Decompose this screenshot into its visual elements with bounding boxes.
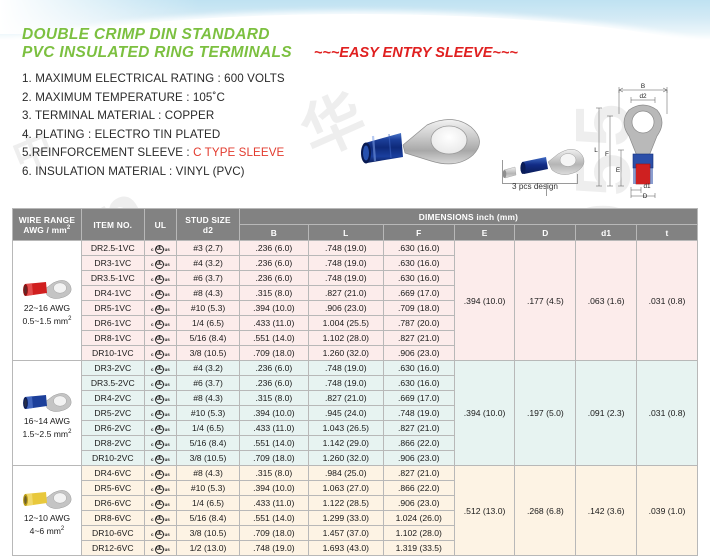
cell-dim-F: .906 (23.0)	[383, 451, 454, 466]
cell-dim-L: 1.043 (26.5)	[308, 421, 383, 436]
cell-dim-B: .394 (10.0)	[239, 481, 308, 496]
cell-item-no: DR8-2VC	[81, 436, 144, 451]
three-piece-design-label: 3 pcs design	[512, 182, 558, 191]
spec-item-5-value: C TYPE SLEEVE	[193, 146, 284, 159]
wire-range-awg: 12~10 AWG	[13, 513, 81, 524]
terminal-dimensions-table: WIRE RANGE AWG / mm2 ITEM NO. UL STUD SI…	[12, 208, 698, 556]
spec-item-5-label: 5.REINFORCEMENT SLEEVE :	[22, 146, 193, 159]
cell-dim-B: .433 (11.0)	[239, 421, 308, 436]
header-col-d1: d1	[576, 225, 637, 241]
cell-dim-B: .315 (8.0)	[239, 466, 308, 481]
wire-range-cell-yellow: 12~10 AWG4~6 mm2	[13, 466, 82, 556]
ul-certification-icon: cULus	[151, 455, 170, 464]
cell-dim-L: 1.260 (32.0)	[308, 346, 383, 361]
cell-dim-L: 1.299 (33.0)	[308, 511, 383, 526]
ul-certification-icon: cULus	[151, 335, 170, 344]
cell-ul: cULus	[144, 301, 176, 316]
cell-item-no: DR10-6VC	[81, 526, 144, 541]
wire-range-awg: 22~16 AWG	[13, 303, 81, 314]
svg-text:d2: d2	[639, 93, 647, 100]
table-header: WIRE RANGE AWG / mm2 ITEM NO. UL STUD SI…	[13, 209, 698, 241]
cell-dim-L: 1.260 (32.0)	[308, 451, 383, 466]
cell-item-no: DR4-2VC	[81, 391, 144, 406]
terminal-thumbnail-yellow	[19, 486, 75, 512]
cell-dim-F: .866 (22.0)	[383, 481, 454, 496]
cell-dim-B: .551 (14.0)	[239, 331, 308, 346]
cell-dim-F: .709 (18.0)	[383, 301, 454, 316]
ul-certification-icon: cULus	[151, 425, 170, 434]
cell-item-no: DR6-6VC	[81, 496, 144, 511]
cell-dim-F: 1.319 (33.5)	[383, 541, 454, 556]
cell-dim-F: .906 (23.0)	[383, 346, 454, 361]
cell-stud-size: #4 (3.2)	[177, 256, 240, 271]
cell-item-no: DR10-1VC	[81, 346, 144, 361]
ul-certification-icon: cULus	[151, 515, 170, 524]
cell-ul: cULus	[144, 436, 176, 451]
easy-entry-tagline: ~~~EASY ENTRY SLEEVE~~~	[314, 45, 518, 61]
cell-dim-L: .906 (23.0)	[308, 301, 383, 316]
ul-certification-icon: cULus	[151, 470, 170, 479]
cell-item-no: DR4-1VC	[81, 286, 144, 301]
title-line-2-row: PVC INSULATED RING TERMINALS ~~~EASY ENT…	[22, 44, 518, 62]
cell-stud-size: 5/16 (8.4)	[177, 436, 240, 451]
table-header-row-1: WIRE RANGE AWG / mm2 ITEM NO. UL STUD SI…	[13, 209, 698, 225]
spec-item-5: 5.REINFORCEMENT SLEEVE : C TYPE SLEEVE	[22, 144, 285, 163]
cell-dim-L: 1.693 (43.0)	[308, 541, 383, 556]
cell-dim-B: .433 (11.0)	[239, 496, 308, 511]
header-col-D: D	[515, 225, 576, 241]
ul-certification-icon: cULus	[151, 500, 170, 509]
ul-certification-icon: cULus	[151, 440, 170, 449]
cell-ul: cULus	[144, 331, 176, 346]
cell-ul: cULus	[144, 271, 176, 286]
cell-ul: cULus	[144, 451, 176, 466]
cell-dim-L: .984 (25.0)	[308, 466, 383, 481]
cell-dim-L: .827 (21.0)	[308, 391, 383, 406]
cell-ul: cULus	[144, 421, 176, 436]
cell-stud-size: 3/8 (10.5)	[177, 346, 240, 361]
cell-ul: cULus	[144, 406, 176, 421]
three-piece-bracket	[502, 160, 578, 184]
header-wire-range-line1: WIRE RANGE	[13, 215, 81, 225]
cell-dim-F: .906 (23.0)	[383, 496, 454, 511]
cell-item-no: DR6-1VC	[81, 316, 144, 331]
cell-dim-F: .827 (21.0)	[383, 466, 454, 481]
cell-stud-size: #10 (5.3)	[177, 481, 240, 496]
technical-drawing-dimensions: B d2 L F E d1 D	[585, 78, 705, 198]
cell-dim-t: .031 (0.8)	[637, 241, 698, 361]
cell-item-no: DR5-6VC	[81, 481, 144, 496]
cell-dim-F: .630 (16.0)	[383, 256, 454, 271]
cell-dim-L: .748 (19.0)	[308, 271, 383, 286]
table-row: 12~10 AWG4~6 mm2DR4-6VCcULus#8 (4.3).315…	[13, 466, 698, 481]
cell-item-no: DR8-6VC	[81, 511, 144, 526]
cell-ul: cULus	[144, 496, 176, 511]
header-ul: UL	[144, 209, 176, 241]
cell-dim-B: .236 (6.0)	[239, 376, 308, 391]
cell-stud-size: #4 (3.2)	[177, 361, 240, 376]
cell-dim-D: .268 (6.8)	[515, 466, 576, 556]
cell-ul: cULus	[144, 256, 176, 271]
cell-dim-B: .433 (11.0)	[239, 316, 308, 331]
cell-dim-L: 1.063 (27.0)	[308, 481, 383, 496]
cell-stud-size: 5/16 (8.4)	[177, 331, 240, 346]
header-col-E: E	[454, 225, 515, 241]
ul-certification-icon: cULus	[151, 395, 170, 404]
cell-dim-B: .236 (6.0)	[239, 241, 308, 256]
cell-dim-L: .827 (21.0)	[308, 286, 383, 301]
cell-dim-d1: .142 (3.6)	[576, 466, 637, 556]
header-wire-range-units: AWG / mm	[23, 225, 66, 235]
cell-dim-B: .236 (6.0)	[239, 361, 308, 376]
cell-ul: cULus	[144, 541, 176, 556]
table-row: 16~14 AWG1.5~2.5 mm2DR3-2VCcULus#4 (3.2)…	[13, 361, 698, 376]
cell-dim-F: 1.024 (26.0)	[383, 511, 454, 526]
table-body: 22~16 AWG0.5~1.5 mm2DR2.5-1VCcULus#3 (2.…	[13, 241, 698, 556]
ul-certification-icon: cULus	[151, 275, 170, 284]
title-line-1: DOUBLE CRIMP DIN STANDARD	[22, 26, 518, 44]
specification-list: 1. MAXIMUM ELECTRICAL RATING : 600 VOLTS…	[22, 70, 285, 182]
cell-dim-L: 1.004 (25.5)	[308, 316, 383, 331]
cell-dim-B: .748 (19.0)	[239, 541, 308, 556]
cell-item-no: DR5-1VC	[81, 301, 144, 316]
cell-dim-F: .748 (19.0)	[383, 406, 454, 421]
cell-dim-d1: .063 (1.6)	[576, 241, 637, 361]
cell-stud-size: 1/4 (6.5)	[177, 316, 240, 331]
ul-certification-icon: cULus	[151, 245, 170, 254]
wire-range-awg: 16~14 AWG	[13, 416, 81, 427]
cell-dim-L: .945 (24.0)	[308, 406, 383, 421]
ul-certification-icon: cULus	[151, 365, 170, 374]
cell-ul: cULus	[144, 361, 176, 376]
cell-item-no: DR3-2VC	[81, 361, 144, 376]
terminal-thumbnail-blue	[19, 389, 75, 415]
spec-item-1: 1. MAXIMUM ELECTRICAL RATING : 600 VOLTS	[22, 70, 285, 89]
svg-text:L: L	[594, 147, 598, 154]
header-col-F: F	[383, 225, 454, 241]
cell-ul: cULus	[144, 466, 176, 481]
wire-range-mm: 1.5~2.5 mm2	[13, 427, 81, 440]
header-col-L: L	[308, 225, 383, 241]
title-line-2: PVC INSULATED RING TERMINALS	[22, 44, 292, 62]
cell-stud-size: 5/16 (8.4)	[177, 511, 240, 526]
table-row: 22~16 AWG0.5~1.5 mm2DR2.5-1VCcULus#3 (2.…	[13, 241, 698, 256]
cell-stud-size: #8 (4.3)	[177, 286, 240, 301]
cell-dim-B: .315 (8.0)	[239, 391, 308, 406]
cell-dim-F: .669 (17.0)	[383, 391, 454, 406]
cell-ul: cULus	[144, 286, 176, 301]
header-wire-range: WIRE RANGE AWG / mm2	[13, 209, 82, 241]
cell-dim-F: .630 (16.0)	[383, 361, 454, 376]
cell-item-no: DR8-1VC	[81, 331, 144, 346]
product-photo-blue-ring-terminal	[345, 105, 505, 185]
ul-certification-icon: cULus	[151, 290, 170, 299]
header-item-no: ITEM NO.	[81, 209, 144, 241]
cell-ul: cULus	[144, 376, 176, 391]
cell-item-no: DR2.5-1VC	[81, 241, 144, 256]
header-col-t: t	[637, 225, 698, 241]
cell-item-no: DR10-2VC	[81, 451, 144, 466]
cell-stud-size: 1/4 (6.5)	[177, 421, 240, 436]
wire-range-mm: 4~6 mm2	[13, 524, 81, 537]
cell-stud-size: #3 (2.7)	[177, 241, 240, 256]
cell-dim-L: .748 (19.0)	[308, 241, 383, 256]
cell-ul: cULus	[144, 346, 176, 361]
cell-dim-D: .197 (5.0)	[515, 361, 576, 466]
cell-dim-F: .630 (16.0)	[383, 376, 454, 391]
cell-ul: cULus	[144, 391, 176, 406]
svg-text:F: F	[605, 151, 609, 158]
header-stud-size: STUD SIZE d2	[177, 209, 240, 241]
ul-certification-icon: cULus	[151, 530, 170, 539]
cell-dim-E: .512 (13.0)	[454, 466, 515, 556]
cell-dim-B: .709 (18.0)	[239, 526, 308, 541]
cell-item-no: DR5-2VC	[81, 406, 144, 421]
cell-dim-L: 1.102 (28.0)	[308, 331, 383, 346]
cell-dim-B: .394 (10.0)	[239, 406, 308, 421]
cell-stud-size: #8 (4.3)	[177, 466, 240, 481]
cell-dim-B: .394 (10.0)	[239, 301, 308, 316]
cell-stud-size: #6 (3.7)	[177, 271, 240, 286]
cell-item-no: DR3.5-2VC	[81, 376, 144, 391]
cell-dim-B: .236 (6.0)	[239, 271, 308, 286]
cell-dim-L: 1.122 (28.5)	[308, 496, 383, 511]
svg-text:D: D	[643, 193, 648, 198]
cell-stud-size: 1/4 (6.5)	[177, 496, 240, 511]
cell-dim-B: .709 (18.0)	[239, 346, 308, 361]
cell-item-no: DR12-6VC	[81, 541, 144, 556]
header-dimensions: DIMENSIONS inch (mm)	[239, 209, 697, 225]
terminal-thumbnail-red	[19, 276, 75, 302]
cell-stud-size: 3/8 (10.5)	[177, 526, 240, 541]
three-piece-leader-tick	[546, 184, 547, 196]
ul-certification-icon: cULus	[151, 485, 170, 494]
cell-dim-L: .748 (19.0)	[308, 361, 383, 376]
header-stud-size-line1: STUD SIZE	[177, 215, 239, 225]
cell-ul: cULus	[144, 526, 176, 541]
ul-certification-icon: cULus	[151, 305, 170, 314]
wire-range-mm: 0.5~1.5 mm2	[13, 314, 81, 327]
cell-dim-F: .787 (20.0)	[383, 316, 454, 331]
cell-dim-B: .709 (18.0)	[239, 451, 308, 466]
svg-text:E: E	[616, 167, 620, 174]
cell-stud-size: #6 (3.7)	[177, 376, 240, 391]
cell-ul: cULus	[144, 241, 176, 256]
cell-stud-size: #10 (5.3)	[177, 406, 240, 421]
cell-dim-B: .315 (8.0)	[239, 286, 308, 301]
page-title: DOUBLE CRIMP DIN STANDARD PVC INSULATED …	[22, 26, 518, 62]
spec-item-4: 4. PLATING : ELECTRO TIN PLATED	[22, 126, 285, 145]
header-wire-range-line2: AWG / mm2	[13, 225, 81, 235]
spec-item-2: 2. MAXIMUM TEMPERATURE : 105˚C	[22, 89, 285, 108]
cell-ul: cULus	[144, 511, 176, 526]
cell-dim-B: .551 (14.0)	[239, 511, 308, 526]
cell-stud-size: #8 (4.3)	[177, 391, 240, 406]
cell-dim-F: 1.102 (28.0)	[383, 526, 454, 541]
cell-item-no: DR3.5-1VC	[81, 271, 144, 286]
header-col-B: B	[239, 225, 308, 241]
wire-range-cell-blue: 16~14 AWG1.5~2.5 mm2	[13, 361, 82, 466]
cell-dim-F: .669 (17.0)	[383, 286, 454, 301]
cell-stud-size: #10 (5.3)	[177, 301, 240, 316]
header-wire-range-sup: 2	[67, 225, 71, 231]
spec-item-6: 6. INSULATION MATERIAL : VINYL (PVC)	[22, 163, 285, 182]
wire-range-cell-red: 22~16 AWG0.5~1.5 mm2	[13, 241, 82, 361]
cell-dim-F: .630 (16.0)	[383, 271, 454, 286]
ul-certification-icon: cULus	[151, 350, 170, 359]
cell-dim-F: .866 (22.0)	[383, 436, 454, 451]
cell-dim-L: 1.142 (29.0)	[308, 436, 383, 451]
cell-item-no: DR6-2VC	[81, 421, 144, 436]
cell-dim-F: .827 (21.0)	[383, 331, 454, 346]
svg-text:d1: d1	[643, 183, 651, 190]
cell-dim-d1: .091 (2.3)	[576, 361, 637, 466]
cell-dim-L: .748 (19.0)	[308, 256, 383, 271]
ul-certification-icon: cULus	[151, 410, 170, 419]
cell-dim-D: .177 (4.5)	[515, 241, 576, 361]
svg-text:B: B	[641, 83, 645, 90]
header-stud-size-line2: d2	[177, 225, 239, 235]
cell-ul: cULus	[144, 481, 176, 496]
cell-item-no: DR4-6VC	[81, 466, 144, 481]
cell-dim-E: .394 (10.0)	[454, 241, 515, 361]
cell-dim-B: .551 (14.0)	[239, 436, 308, 451]
ul-certification-icon: cULus	[151, 380, 170, 389]
cell-dim-F: .630 (16.0)	[383, 241, 454, 256]
cell-stud-size: 3/8 (10.5)	[177, 451, 240, 466]
cell-dim-F: .827 (21.0)	[383, 421, 454, 436]
cell-ul: cULus	[144, 316, 176, 331]
cell-dim-L: .748 (19.0)	[308, 376, 383, 391]
cell-dim-t: .039 (1.0)	[637, 466, 698, 556]
cell-item-no: DR3-1VC	[81, 256, 144, 271]
cell-stud-size: 1/2 (13.0)	[177, 541, 240, 556]
cell-dim-E: .394 (10.0)	[454, 361, 515, 466]
ul-certification-icon: cULus	[151, 545, 170, 554]
ul-certification-icon: cULus	[151, 320, 170, 329]
ul-certification-icon: cULus	[151, 260, 170, 269]
cell-dim-t: .031 (0.8)	[637, 361, 698, 466]
cell-dim-L: 1.457 (37.0)	[308, 526, 383, 541]
spec-item-3: 3. TERMINAL MATERIAL : COPPER	[22, 107, 285, 126]
cell-dim-B: .236 (6.0)	[239, 256, 308, 271]
